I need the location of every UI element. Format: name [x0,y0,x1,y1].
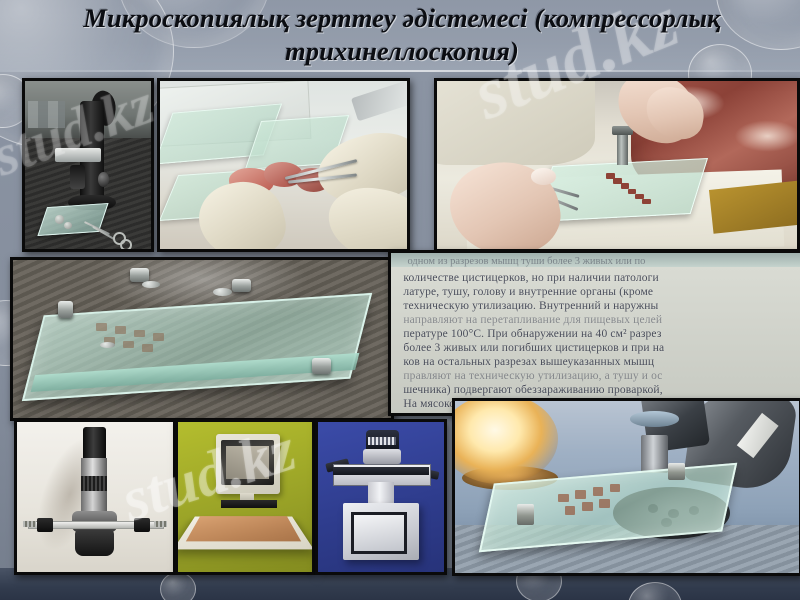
metal-clip [55,215,64,223]
scissors-blade [92,226,115,240]
notebook [709,180,797,233]
scissors-ring [120,239,133,249]
compressorium-bolt [668,463,685,480]
page-line: количестве цистицерков, но при наличии п… [403,271,799,285]
fingernail [531,168,556,185]
page-line: шечника) подвергают обеззараживанию пров… [403,383,799,397]
floor-tiles [28,101,66,128]
photo-content [178,422,312,572]
photo-content [25,81,151,249]
device-label [368,437,396,445]
sample-cell [134,330,145,338]
microscope-stage [55,148,100,161]
slide-canvas: stud.kz [0,0,800,600]
compressorium-glass [37,203,108,236]
platform-surface [186,516,302,541]
metal-washer [142,281,161,289]
compressorium-bolt [130,268,149,282]
device-base [75,530,114,556]
metal-washer [213,288,232,296]
tube-segment [81,491,108,512]
sample-cell [142,344,153,352]
page-text-block: количестве цистицерков, но при наличии п… [403,271,799,409]
sample-cell [96,323,107,331]
meat-sample [582,502,592,511]
page-line: пературе 100°С. При обнаружении на 40 см… [403,327,799,341]
tube-segment [81,458,108,478]
compressorium-bolt [232,279,251,292]
meat-sample [575,490,585,499]
slide-clip [134,518,150,532]
photo-content [437,81,797,249]
slide-title: Микроскопиялық зерттеу әдістемесі (компр… [28,2,776,68]
stage-slot [333,467,429,475]
photo-compressorium-glass-plate [10,257,394,421]
compressorium-bolt [517,504,534,525]
meat-sample [565,506,575,515]
photo-content [160,81,407,249]
photo-placing-samples-on-compressorium [434,78,800,252]
hand [444,153,567,249]
projection-window [351,512,407,554]
sample-cell [115,326,126,334]
photo-content [318,422,444,572]
page-line: правляют на техническую утилизацию, а ту… [403,369,799,383]
slide-clip [37,518,53,532]
microscope-objective [70,165,85,189]
sample-cell [123,341,134,349]
metal-clip [64,222,72,229]
page-line: ков на остальных разрезах вышеуказанных … [403,355,799,369]
eyepiece [83,427,106,460]
scissors-handle [351,81,407,121]
photo-projection-trichinelloscope-green [175,419,315,575]
photo-microscope-on-lab-bench [22,78,154,252]
lens-turret [363,449,401,464]
photo-content [455,401,799,573]
microscope-objective [641,435,669,473]
sample-cell [153,333,164,341]
spring [154,521,166,527]
meat-sample [558,494,568,503]
spring [23,521,35,527]
meat-sample [610,484,620,493]
lab-coat [437,81,595,165]
photo-trichinelloscope-column [14,419,176,575]
photo-textbook-page: одном из разрезов мышц туши более 3 живы… [388,250,800,416]
meat-sample [642,199,651,204]
page-line: техническую утилизацию. Внутренний и нар… [403,299,799,313]
compressorium-bolt [58,301,73,318]
meat-sample [593,487,603,496]
focus-knob [98,172,109,187]
focus-ring [630,411,678,426]
photo-projection-trichinelloscope-blue [315,419,447,575]
compressorium-bolt [312,358,331,374]
specimen-stage [221,500,277,508]
projection-screen [226,446,269,479]
photo-content: одном из разрезов мышц туши более 3 живы… [391,253,800,413]
title-divider-line [0,70,800,72]
compressorium-screw [617,131,628,165]
page-line: латуре, тушу, голову и внутренние органы… [403,285,799,299]
page-line: направляют на перетапливание для пищевых… [403,313,799,327]
photo-compressorium-under-microscope [452,398,800,576]
meat-sample [599,499,609,508]
photo-content [17,422,173,572]
photo-content [13,260,391,418]
page-line-cut: одном из разрезов мышц туши более 3 живы… [407,256,794,267]
photo-gloved-hands-cutting-meat-samples [157,78,410,252]
page-line: более 3 живых или погибших цистицерков и… [403,341,799,355]
